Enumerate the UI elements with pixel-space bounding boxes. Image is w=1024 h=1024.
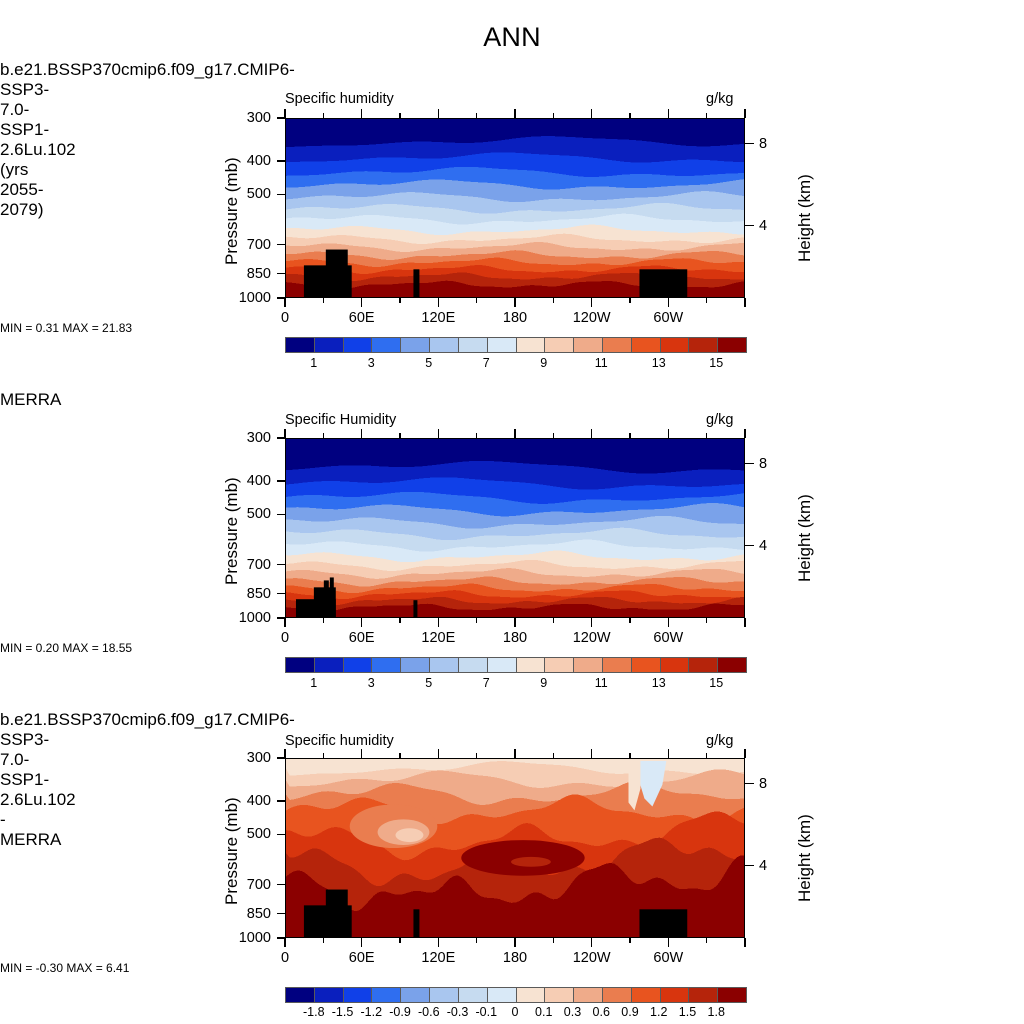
lon-tickmark — [361, 618, 363, 627]
colorbar-swatch — [545, 338, 574, 352]
height-tick-label: 4 — [759, 218, 767, 234]
lon-tickmark — [744, 618, 746, 627]
colorbar-swatch — [430, 988, 459, 1002]
lon-tick-label: 120W — [573, 630, 611, 646]
colorbar-swatch — [286, 338, 315, 352]
lon-tickmark — [438, 938, 440, 947]
lon-tickmark-top — [323, 433, 325, 438]
lon-tick-label: 60E — [349, 950, 375, 966]
contour-field-model — [286, 119, 744, 297]
lon-tickmark-top — [706, 113, 708, 118]
colorbar-tick-label: 0.6 — [593, 1005, 610, 1019]
pressure-tick-label: 1000 — [223, 290, 271, 306]
colorbar-swatch — [401, 338, 430, 352]
lon-tickmark-top — [744, 429, 746, 438]
colorbar-swatch — [689, 988, 718, 1002]
colorbar-tick-label: 13 — [652, 676, 666, 690]
contour-field-difference — [286, 759, 744, 937]
lon-tick-label: 60W — [653, 630, 683, 646]
lon-tickmark — [399, 938, 401, 943]
plot-area-model[interactable] — [285, 118, 745, 298]
colorbar-swatch — [372, 338, 401, 352]
lon-tickmark — [668, 618, 670, 627]
lon-tickmark-top — [553, 113, 555, 118]
pressure-tick-label: 400 — [223, 473, 271, 489]
colorbar-tick-label: 1 — [310, 356, 317, 370]
pressure-tickmark — [277, 514, 285, 516]
colorbar-swatch — [603, 988, 632, 1002]
lon-tickmark — [706, 298, 708, 303]
lon-tick-label: 0 — [281, 950, 289, 966]
colorbar-swatch — [488, 988, 517, 1002]
colorbar-swatch — [545, 658, 574, 672]
height-tickmark — [745, 225, 754, 227]
lon-tick-label: 60W — [653, 310, 683, 326]
lon-tickmark-top — [438, 109, 440, 118]
figure-page: ANN b.e21.BSSP370cmip6.f09_g17.CMIP6-SSP… — [0, 0, 1024, 1024]
lon-tickmark — [476, 938, 478, 943]
lon-tick-label: 0 — [281, 630, 289, 646]
height-tickmark — [745, 783, 754, 785]
colorbar-tick-label: 11 — [595, 676, 608, 690]
colorbar-tick-label: 11 — [595, 356, 608, 370]
lon-tick-label: 120E — [421, 950, 455, 966]
lon-tickmark-top — [476, 113, 478, 118]
lon-tickmark — [323, 298, 325, 303]
lon-tickmark — [514, 618, 516, 627]
lon-tickmark — [629, 618, 631, 623]
colorbar-tick-label: 3 — [368, 356, 375, 370]
colorbar-tick-label: -0.9 — [389, 1005, 411, 1019]
lon-tickmark-top — [284, 429, 286, 438]
lon-tickmark — [399, 618, 401, 623]
colorbar-tick-label: 7 — [483, 676, 490, 690]
lon-tick-label: 120W — [573, 310, 611, 326]
pressure-tick-label: 1000 — [223, 610, 271, 626]
colorbar-swatch — [632, 658, 661, 672]
colorbar-swatch — [286, 658, 315, 672]
lon-tickmark-top — [591, 749, 593, 758]
colorbar-tick-label: 1.2 — [650, 1005, 667, 1019]
pressure-tick-label: 850 — [223, 586, 271, 602]
colorbar-swatch — [689, 658, 718, 672]
lon-tickmark — [323, 618, 325, 623]
lon-tickmark-top — [284, 109, 286, 118]
pressure-tick-label: 300 — [223, 430, 271, 446]
unit-label-obs: g/kg — [706, 412, 733, 428]
variable-label-model: Specific humidity — [285, 91, 394, 107]
colorbar-swatch — [401, 658, 430, 672]
colorbar-swatch — [574, 988, 603, 1002]
colorbar-tick-label: 15 — [709, 676, 723, 690]
pressure-tickmark — [277, 194, 285, 196]
lon-tickmark-top — [476, 433, 478, 438]
height-tick-label: 4 — [759, 858, 767, 874]
lon-tickmark-top — [744, 109, 746, 118]
lon-tickmark — [361, 298, 363, 307]
axis-title-height-model: Height (km) — [795, 174, 815, 262]
lon-tickmark-top — [514, 109, 516, 118]
colorbar-swatch — [517, 338, 546, 352]
lon-tickmark — [591, 298, 593, 307]
colorbar-swatch — [574, 658, 603, 672]
pressure-tickmark — [277, 480, 285, 482]
colorbar-tick-label: 0.1 — [535, 1005, 552, 1019]
colorbar-tick-label: 13 — [652, 356, 666, 370]
colorbar-swatch — [315, 988, 344, 1002]
lon-tickmark-top — [361, 749, 363, 758]
lon-tickmark — [361, 938, 363, 947]
colorbar-swatch — [488, 338, 517, 352]
lon-tick-label: 60E — [349, 630, 375, 646]
lon-tickmark-top — [744, 749, 746, 758]
lon-tickmark-top — [476, 753, 478, 758]
colorbar-tick-label: -1.8 — [303, 1005, 325, 1019]
lon-tickmark-top — [323, 753, 325, 758]
lon-tickmark-top — [553, 433, 555, 438]
lon-tickmark-top — [361, 109, 363, 118]
colorbar-swatch — [718, 988, 746, 1002]
lon-tickmark-top — [399, 433, 401, 438]
height-tickmark — [745, 545, 754, 547]
lon-tick-label: 0 — [281, 310, 289, 326]
pressure-tick-label: 1000 — [223, 930, 271, 946]
lon-tickmark — [629, 298, 631, 303]
colorbar-tick-label: -0.6 — [418, 1005, 440, 1019]
lon-tickmark — [476, 618, 478, 623]
pressure-tickmark — [277, 834, 285, 836]
colorbar-swatch — [286, 988, 315, 1002]
lon-tickmark — [284, 938, 286, 947]
colorbar-swatch — [661, 988, 690, 1002]
contour-field-obs — [286, 439, 744, 617]
height-tick-label: 8 — [759, 136, 767, 152]
colorbar-tick-label: 5 — [425, 356, 432, 370]
lon-tickmark-top — [399, 753, 401, 758]
colorbar-tick-label: 0 — [512, 1005, 519, 1019]
pressure-tick-label: 300 — [223, 750, 271, 766]
variable-label-obs: Specific Humidity — [285, 412, 396, 428]
lon-tickmark-top — [514, 429, 516, 438]
lon-tickmark-top — [438, 429, 440, 438]
colorbar-difference[interactable] — [285, 987, 747, 1003]
height-tick-label: 8 — [759, 776, 767, 792]
colorbar-swatch — [661, 658, 690, 672]
pressure-tickmark — [277, 800, 285, 802]
colorbar-swatch — [718, 658, 746, 672]
colorbar-tick-label: -0.1 — [475, 1005, 497, 1019]
lon-tickmark — [399, 298, 401, 303]
plot-area-difference[interactable] — [285, 758, 745, 938]
lon-tickmark-top — [668, 429, 670, 438]
colorbar-swatch — [517, 658, 546, 672]
colorbar-model[interactable] — [285, 337, 747, 353]
lon-tickmark — [323, 938, 325, 943]
colorbar-swatch — [372, 658, 401, 672]
lon-tickmark-top — [438, 749, 440, 758]
lon-tickmark — [284, 618, 286, 627]
lon-tickmark — [553, 298, 555, 303]
pressure-tick-label: 700 — [223, 557, 271, 573]
lon-tickmark-top — [629, 433, 631, 438]
colorbar-swatch — [517, 988, 546, 1002]
figure-main-title: ANN — [0, 22, 1024, 53]
colorbar-swatch — [603, 658, 632, 672]
pressure-tick-label: 700 — [223, 877, 271, 893]
lon-tickmark — [744, 298, 746, 307]
axis-title-height-obs: Height (km) — [795, 494, 815, 582]
lon-tick-label: 180 — [503, 310, 527, 326]
colorbar-swatch — [315, 658, 344, 672]
height-tickmark — [745, 865, 754, 867]
colorbar-swatch — [315, 338, 344, 352]
lon-tick-label: 120W — [573, 950, 611, 966]
lon-tickmark — [706, 938, 708, 943]
unit-label-difference: g/kg — [706, 733, 733, 749]
colorbar-swatch — [401, 988, 430, 1002]
colorbar-tick-label: 9 — [540, 356, 547, 370]
colorbar-swatch — [430, 658, 459, 672]
colorbar-tick-label: 15 — [709, 356, 723, 370]
pressure-tick-label: 500 — [223, 506, 271, 522]
lon-tickmark — [668, 298, 670, 307]
colorbar-tick-label: -1.2 — [360, 1005, 382, 1019]
colorbar-tick-label: 7 — [483, 356, 490, 370]
colorbar-tick-label: 9 — [540, 676, 547, 690]
colorbar-tick-label: 1.8 — [708, 1005, 725, 1019]
lon-tickmark-top — [284, 749, 286, 758]
colorbar-swatch — [344, 658, 373, 672]
lon-tick-label: 120E — [421, 630, 455, 646]
lon-tick-label: 60W — [653, 950, 683, 966]
lon-tickmark — [514, 938, 516, 947]
lon-tick-label: 180 — [503, 950, 527, 966]
lon-tickmark — [438, 618, 440, 627]
axis-title-height-difference: Height (km) — [795, 814, 815, 902]
pressure-tick-label: 500 — [223, 826, 271, 842]
pressure-tickmark — [277, 564, 285, 566]
lon-tickmark-top — [514, 749, 516, 758]
colorbar-swatch — [459, 988, 488, 1002]
colorbar-swatch — [603, 338, 632, 352]
lon-tickmark-top — [591, 429, 593, 438]
pressure-tick-label: 400 — [223, 153, 271, 169]
colorbar-swatch — [344, 988, 373, 1002]
lon-tick-label: 120E — [421, 310, 455, 326]
lon-tickmark-top — [706, 753, 708, 758]
colorbar-swatch — [661, 338, 690, 352]
lon-tickmark-top — [323, 113, 325, 118]
lon-tickmark-top — [629, 113, 631, 118]
height-tick-label: 4 — [759, 538, 767, 554]
lon-tickmark — [476, 298, 478, 303]
colorbar-obs[interactable] — [285, 657, 747, 673]
plot-area-obs[interactable] — [285, 438, 745, 618]
height-tick-label: 8 — [759, 456, 767, 472]
pressure-tickmark — [277, 913, 285, 915]
pressure-tickmark — [277, 593, 285, 595]
lon-tickmark — [591, 938, 593, 947]
colorbar-swatch — [430, 338, 459, 352]
lon-tickmark — [553, 938, 555, 943]
lon-tickmark — [744, 938, 746, 947]
colorbar-swatch — [689, 338, 718, 352]
lon-tickmark — [706, 618, 708, 623]
pressure-tickmark — [277, 273, 285, 275]
pressure-tick-label: 500 — [223, 186, 271, 202]
height-tickmark — [745, 143, 754, 145]
lon-tickmark — [438, 298, 440, 307]
pressure-tick-label: 700 — [223, 237, 271, 253]
colorbar-tick-label: 0.3 — [564, 1005, 581, 1019]
colorbar-tick-label: -0.3 — [447, 1005, 469, 1019]
pressure-tick-label: 400 — [223, 793, 271, 809]
colorbar-tick-label: 3 — [368, 676, 375, 690]
pressure-tick-label: 850 — [223, 906, 271, 922]
colorbar-swatch — [718, 338, 746, 352]
lon-tick-label: 180 — [503, 630, 527, 646]
unit-label-model: g/kg — [706, 91, 733, 107]
colorbar-tick-label: 1 — [310, 676, 317, 690]
colorbar-tick-label: 0.9 — [621, 1005, 638, 1019]
pressure-tick-label: 300 — [223, 110, 271, 126]
lon-tickmark — [591, 618, 593, 627]
lon-tickmark — [668, 938, 670, 947]
lon-tickmark-top — [553, 753, 555, 758]
colorbar-swatch — [632, 338, 661, 352]
lon-tick-label: 60E — [349, 310, 375, 326]
colorbar-tick-label: 1.5 — [679, 1005, 696, 1019]
lon-tickmark-top — [399, 113, 401, 118]
colorbar-tick-label: -1.5 — [332, 1005, 354, 1019]
pressure-tickmark — [277, 160, 285, 162]
lon-tickmark-top — [706, 433, 708, 438]
lon-tickmark — [553, 618, 555, 623]
lon-tickmark-top — [361, 429, 363, 438]
height-tickmark — [745, 463, 754, 465]
colorbar-swatch — [459, 658, 488, 672]
lon-tickmark-top — [668, 749, 670, 758]
colorbar-tick-label: 5 — [425, 676, 432, 690]
lon-tickmark-top — [629, 753, 631, 758]
pressure-tickmark — [277, 244, 285, 246]
lon-tickmark-top — [591, 109, 593, 118]
colorbar-swatch — [545, 988, 574, 1002]
variable-label-difference: Specific humidity — [285, 733, 394, 749]
lon-tickmark — [629, 938, 631, 943]
colorbar-swatch — [574, 338, 603, 352]
lon-tickmark-top — [668, 109, 670, 118]
colorbar-swatch — [488, 658, 517, 672]
lon-tickmark — [514, 298, 516, 307]
colorbar-swatch — [344, 338, 373, 352]
lon-tickmark — [284, 298, 286, 307]
colorbar-swatch — [459, 338, 488, 352]
colorbar-swatch — [632, 988, 661, 1002]
pressure-tick-label: 850 — [223, 266, 271, 282]
pressure-tickmark — [277, 884, 285, 886]
colorbar-swatch — [372, 988, 401, 1002]
